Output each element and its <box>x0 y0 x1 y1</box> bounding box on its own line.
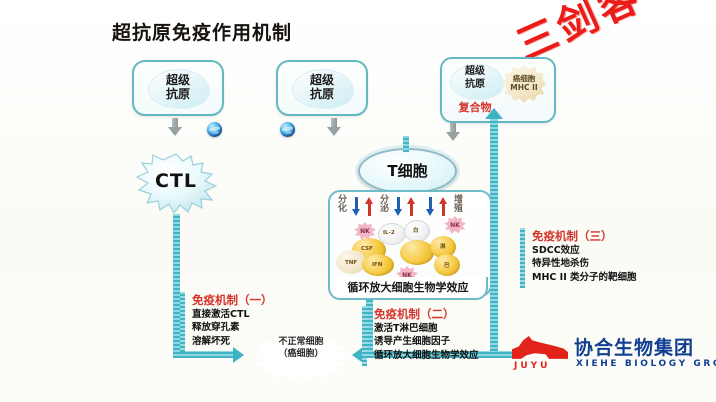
connector-complex-arrowhead <box>485 108 503 119</box>
mechanism-accent-bar <box>180 292 185 352</box>
antigen-left-label-2: 抗原 <box>134 88 222 101</box>
cell-tag-tnf: TNF <box>345 260 357 266</box>
nk-label: NK <box>354 228 376 235</box>
antigen-left-label-1: 超级 <box>134 74 222 87</box>
t-cell-label: T细胞 <box>360 160 455 181</box>
list-item: 激活T淋巴细胞 <box>374 322 479 335</box>
process-label-0: 分化 <box>338 196 348 214</box>
connector-ctl-arrowhead <box>233 347 244 363</box>
mechanism-1-list: 直接激活CTL 释放穿孔素 溶解坏死 <box>192 308 250 348</box>
mechanism-2-heading: 免疫机制（二） <box>374 306 455 322</box>
cell-tag-bai: 白 <box>413 226 419 234</box>
antigen-mid-label-1: 超级 <box>278 74 366 87</box>
mechanism-2-list: 激活T淋巴细胞 诱导产生细胞因子 循环放大细胞生物学效应 <box>374 322 479 362</box>
antigen-mid-label-2: 抗原 <box>278 88 366 101</box>
antigen-box-left: 超级 抗原 <box>132 60 224 116</box>
cytokine-panel-caption: 循环放大细胞生物学效应 <box>328 277 488 300</box>
abnormal-cell-line2: （癌细胞） <box>278 349 323 359</box>
cell-tag-ba: 巴 <box>444 261 450 269</box>
cell-tag-il2: IL-2 <box>383 230 395 236</box>
list-item: MHC II 类分子的靶细胞 <box>532 271 637 284</box>
list-item: 溶解坏死 <box>192 335 250 348</box>
list-item: SDCC效应 <box>532 244 637 257</box>
globe-icon-1 <box>207 122 222 137</box>
ctl-cell: CTL <box>133 152 219 214</box>
list-item: 诱导产生细胞因子 <box>374 335 479 348</box>
list-item: 释放穿孔素 <box>192 321 250 334</box>
nk-label: NK <box>444 222 466 229</box>
ctl-label: CTL <box>133 170 219 192</box>
abnormal-cell-line1: 不正常细胞 <box>278 337 323 347</box>
mechanism-accent-bar <box>362 306 367 366</box>
mechanism-accent-bar <box>520 228 525 288</box>
logo-chinese-name: 协合生物集团 <box>574 333 694 360</box>
process-label-2: 增殖 <box>454 196 464 214</box>
globe-icon-2 <box>280 122 295 137</box>
connector-ctl-horizontal <box>173 351 235 358</box>
connector-tcell-vertical <box>403 136 409 152</box>
tumor-label-2: MHC II <box>510 83 537 92</box>
connector-ctl-vertical <box>173 214 180 358</box>
list-item: 直接激活CTL <box>192 308 250 321</box>
tumor-label-1: 癌细胞 <box>513 74 536 83</box>
logo-mark-text: JUYU <box>514 361 550 371</box>
mechanism-3-heading: 免疫机制（三） <box>532 228 613 244</box>
page-title: 超抗原免疫作用机制 <box>112 18 292 45</box>
bull-icon <box>512 335 568 361</box>
cell-yellow-3 <box>400 240 434 265</box>
complex-label-1: 超级 <box>442 67 508 78</box>
list-item: 特异性地杀伤 <box>532 257 637 270</box>
nk-cell-2: NK <box>444 216 466 235</box>
antigen-box-middle: 超级 抗原 <box>276 60 368 116</box>
connector-complex-vertical <box>490 119 498 351</box>
cell-tag-csf: CSF <box>361 246 373 252</box>
logo-english-name: XIEHE BIOLOGY GROUP <box>576 359 716 369</box>
process-label-1: 分泌 <box>380 196 390 214</box>
tumor-cell-shape: 癌细胞 MHC II <box>502 65 546 103</box>
cell-tag-ifn: IFN <box>372 262 382 268</box>
cell-tag-lin: 淋 <box>440 242 446 250</box>
t-cell: T细胞 <box>358 148 457 194</box>
complex-label-2: 抗原 <box>442 80 508 91</box>
abnormal-cell-label: 不正常细胞 （癌细胞） <box>253 336 349 360</box>
slide-canvas: 超抗原免疫作用机制 三剑客 超级 抗原 超级 抗原 超级 抗原 癌细胞 MHC … <box>0 0 716 402</box>
mechanism-1-heading: 免疫机制（一） <box>192 292 273 308</box>
company-logo: JUYU 协合生物集团 XIEHE BIOLOGY GROUP <box>512 333 702 379</box>
connector-mech2-vertical <box>366 300 373 358</box>
mechanism-3-list: SDCC效应 特异性地杀伤 MHC II 类分子的靶细胞 <box>532 244 637 284</box>
list-item: 循环放大细胞生物学效应 <box>374 349 479 362</box>
